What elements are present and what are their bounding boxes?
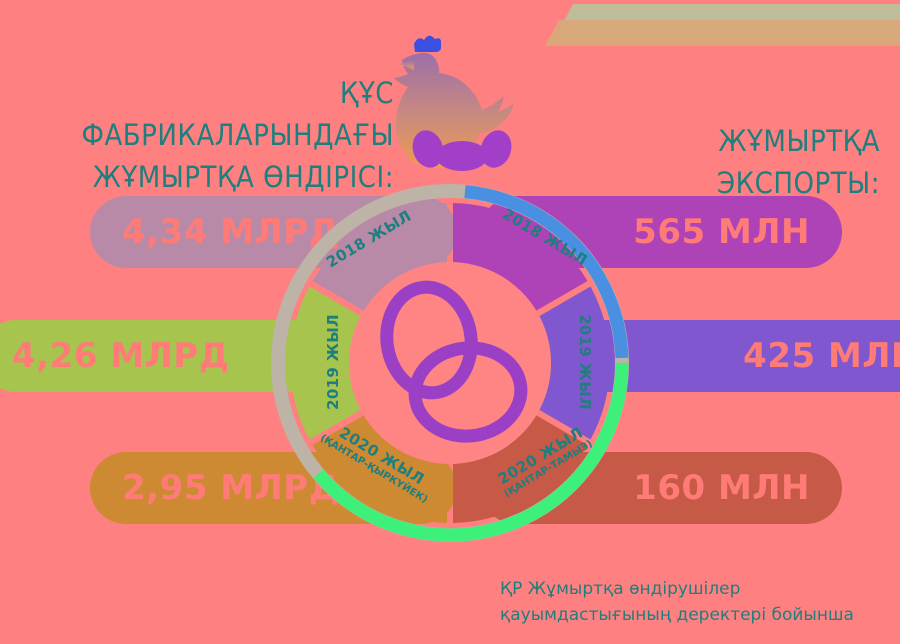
value-label: 4,26 МЛРД — [12, 336, 230, 376]
eggs-icon — [349, 262, 551, 464]
chicken-comb — [414, 36, 441, 52]
source-note: ҚР Жұмыртқа өндірушілер қауымдастығының … — [500, 576, 890, 629]
egg-center — [436, 141, 488, 171]
value-label: 565 МЛН — [633, 212, 810, 252]
infographic-canvas: ҚҰС ФАБРИКАЛАРЫНДАҒЫ ЖҰМЫРТҚА ӨНДІРІСІ: … — [0, 0, 900, 644]
chicken-icon — [392, 22, 532, 172]
segment-label-export-2019: 2019 ЖЫЛ — [576, 314, 594, 410]
decorative-band-tan — [545, 20, 900, 46]
value-label: 425 МЛН — [743, 336, 900, 376]
label-text: 2019 ЖЫЛ — [324, 314, 342, 410]
label-text: 2019 ЖЫЛ — [576, 314, 594, 410]
donut-chart: 2018 ЖЫЛ 2019 ЖЫЛ 2020 ЖЫЛ (ҚАНТАР-ҚЫРКҮ… — [265, 178, 635, 548]
value-label: 160 МЛН — [633, 468, 810, 508]
segment-label-production-2019: 2019 ЖЫЛ — [324, 314, 342, 410]
